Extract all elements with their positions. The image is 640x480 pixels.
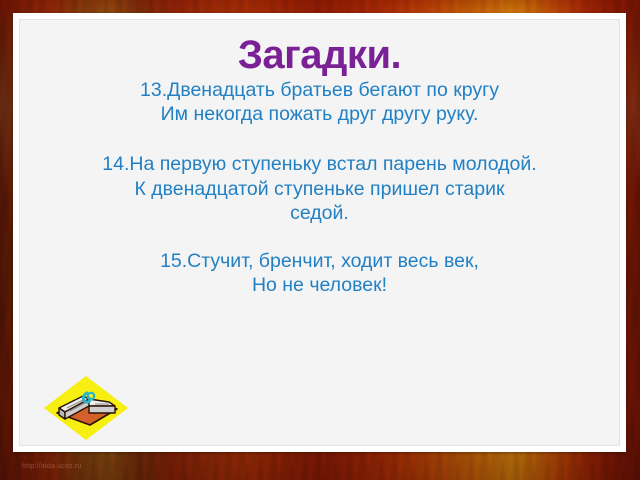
riddle-14-line-2: К двенадцатой ступеньке пришел старик [46,177,593,201]
slide-content: Загадки. 13.Двенадцать братьев бегают по… [20,20,619,297]
source-watermark: http://aida.ucoz.ru [22,463,81,470]
book-right-page-side [89,406,115,413]
content-panel-frame: Загадки. 13.Двенадцать братьев бегают по… [13,13,626,452]
riddle-block-15: 15.Стучит, бренчит, ходит весь век, Но н… [46,249,593,297]
riddle-13-line-1: 13.Двенадцать братьев бегают по кругу [46,78,593,102]
riddle-block-13: 13.Двенадцать братьев бегают по кругу Им… [46,78,593,126]
riddle-spacer-1 [46,126,593,152]
page-title: Загадки. [46,34,593,76]
riddle-block-14: 14.На первую ступеньку встал парень моло… [46,152,593,225]
slide-background-top-strip [0,0,640,13]
riddle-14-line-1: 14.На первую ступеньку встал парень моло… [46,152,593,176]
riddle-14-line-3: седой. [46,201,593,225]
content-panel: Загадки. 13.Двенадцать братьев бегают по… [19,19,620,446]
riddle-15-line-2: Но не человек! [46,273,593,297]
riddle-13-line-2: Им некогда пожать друг другу руку. [46,102,593,126]
slide-root: Загадки. 13.Двенадцать братьев бегают по… [0,0,640,480]
riddle-15-line-1: 15.Стучит, бренчит, ходит весь век, [46,249,593,273]
open-book-icon [43,375,129,441]
riddle-spacer-2 [46,225,593,249]
